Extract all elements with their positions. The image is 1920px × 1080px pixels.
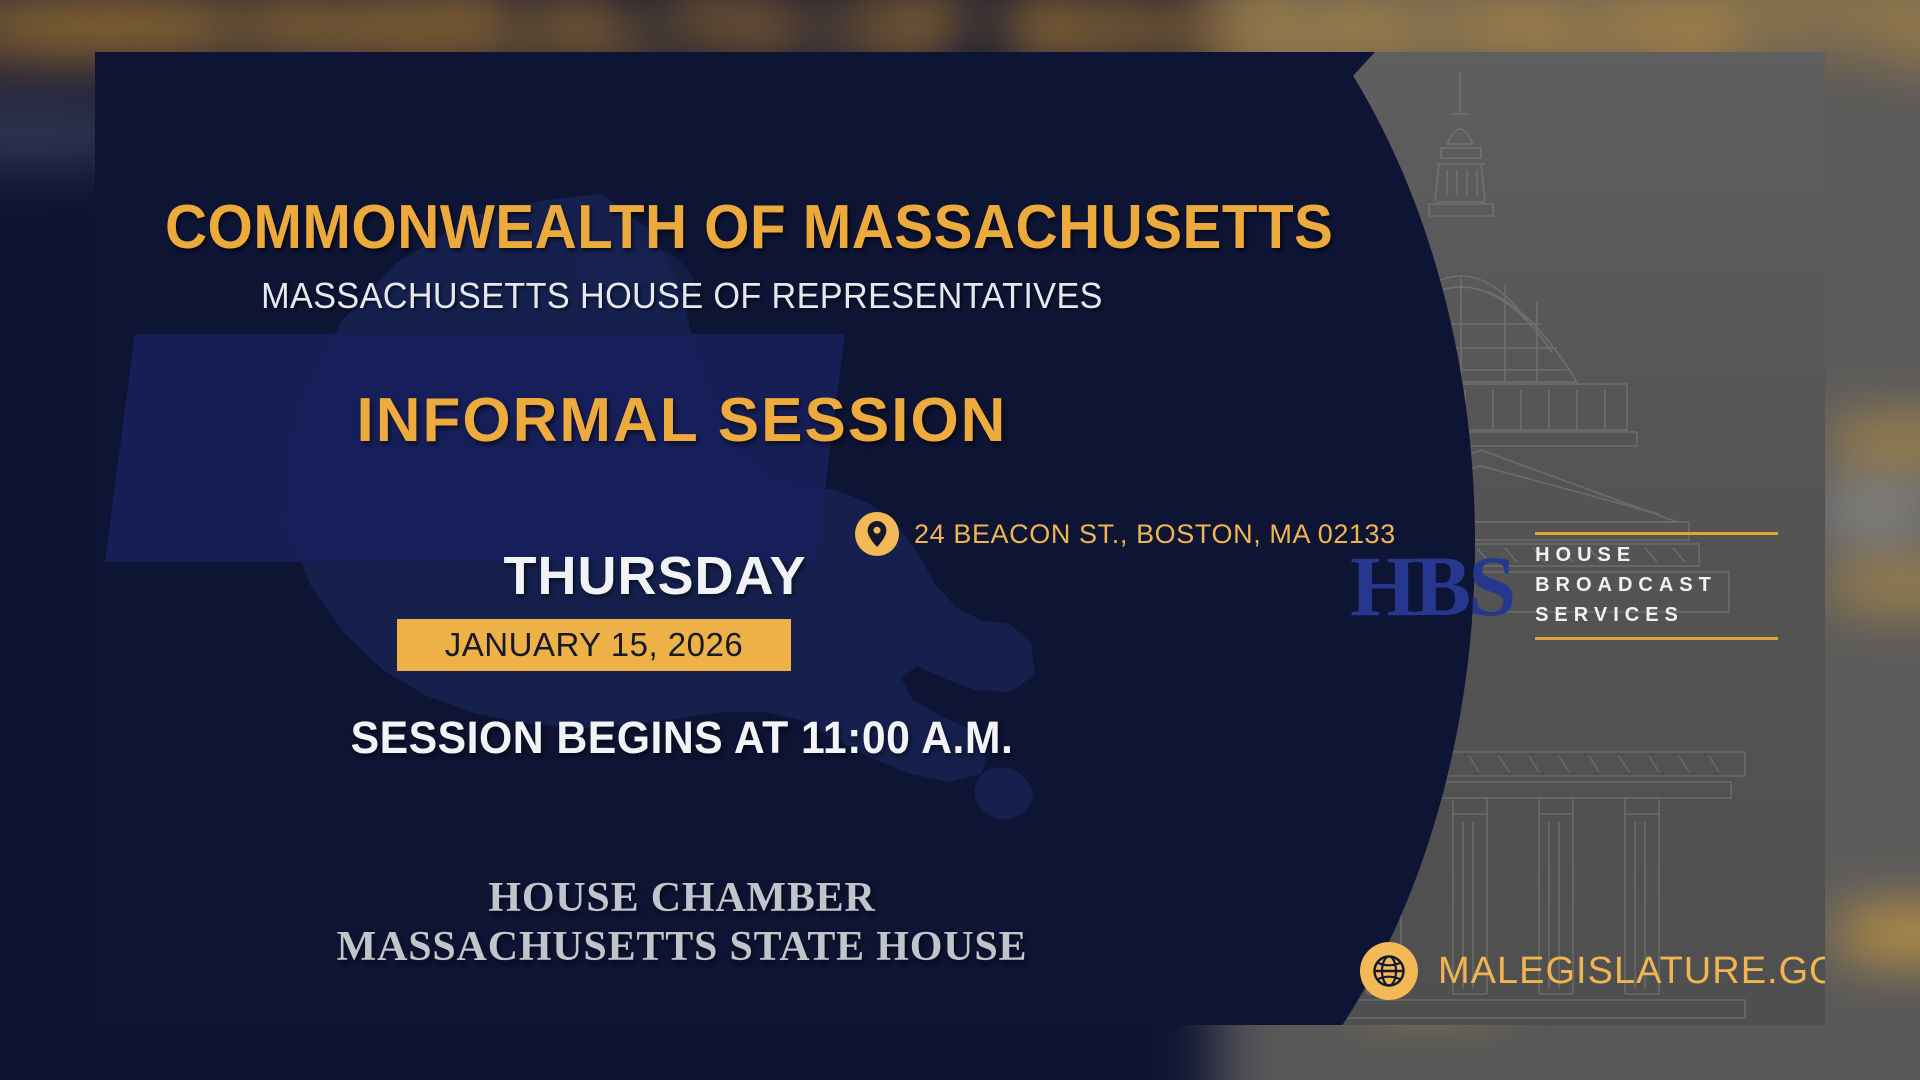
backdrop-logo-blob-b bbox=[1888, 495, 1920, 526]
hbs-logo: HBS HOUSE BROADCAST SERVICES bbox=[1350, 532, 1778, 640]
hbs-word-services: SERVICES bbox=[1535, 604, 1778, 627]
backdrop-website-blob bbox=[1843, 915, 1920, 953]
hbs-word-house: HOUSE bbox=[1535, 544, 1778, 567]
hbs-wordmark: HOUSE BROADCAST SERVICES bbox=[1535, 532, 1778, 640]
day-of-week: THURSDAY bbox=[395, 545, 915, 607]
backdrop-logo-blob-a bbox=[1832, 495, 1866, 526]
page-subtitle: MASSACHUSETTS HOUSE OF REPRESENTATIVES bbox=[160, 275, 1205, 317]
address-row: 24 BEACON ST., BOSTON, MA 02133 bbox=[855, 512, 1396, 556]
hbs-monogram: HBS bbox=[1350, 543, 1513, 629]
venue-block: HOUSE CHAMBER MASSACHUSETTS STATE HOUSE bbox=[132, 874, 1232, 972]
venue-line-1: HOUSE CHAMBER bbox=[132, 874, 1232, 923]
start-time-text: SESSION BEGINS AT 11:00 A.M. bbox=[160, 712, 1205, 764]
website-text: MALEGISLATURE.GOV bbox=[1438, 950, 1825, 993]
globe-icon bbox=[1360, 942, 1418, 1000]
hbs-word-broadcast: BROADCAST bbox=[1535, 574, 1778, 597]
slide-content: COMMONWEALTH OF MASSACHUSETTS MASSACHUSE… bbox=[95, 52, 1825, 1025]
backdrop-gold-rule-bottom bbox=[1832, 574, 1920, 599]
website-row[interactable]: MALEGISLATURE.GOV bbox=[1360, 942, 1825, 1000]
slide-stage: COMMONWEALTH OF MASSACHUSETTS MASSACHUSE… bbox=[0, 0, 1920, 1080]
address-text: 24 BEACON ST., BOSTON, MA 02133 bbox=[914, 519, 1396, 550]
date-text: JANUARY 15, 2026 bbox=[445, 626, 743, 664]
page-title: COMMONWEALTH OF MASSACHUSETTS bbox=[165, 192, 1199, 263]
date-chip: JANUARY 15, 2026 bbox=[397, 619, 791, 671]
venue-line-2: MASSACHUSETTS STATE HOUSE bbox=[132, 923, 1232, 972]
session-type-heading: INFORMAL SESSION bbox=[132, 385, 1232, 456]
slide-card: COMMONWEALTH OF MASSACHUSETTS MASSACHUSE… bbox=[95, 52, 1825, 1025]
backdrop-gold-rule-top bbox=[1832, 428, 1920, 453]
